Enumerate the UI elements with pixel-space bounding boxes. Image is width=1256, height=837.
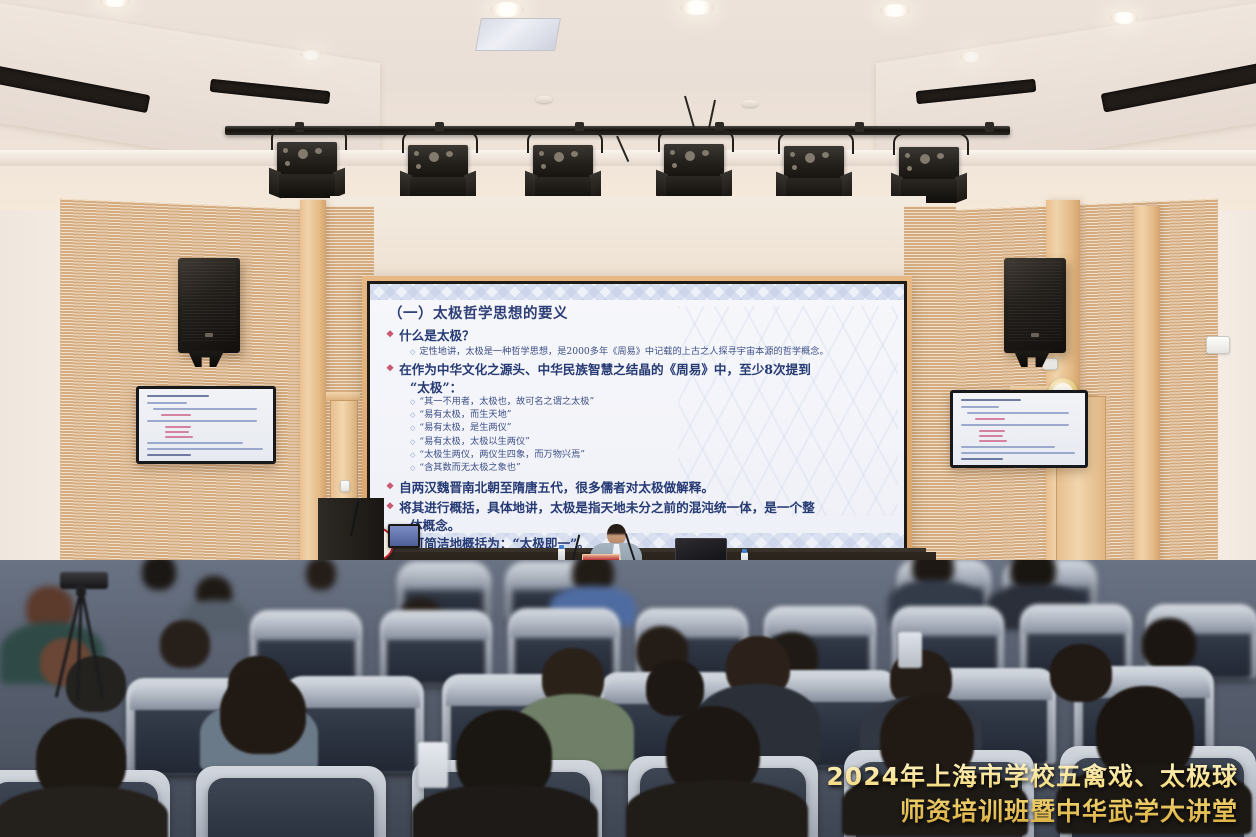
video-camera-on-tripod [54, 572, 114, 702]
diamond-bullet-icon: ❖ [386, 500, 394, 515]
audience-member [160, 620, 210, 668]
slide-bullet-continuation: “太极”： [410, 380, 894, 396]
slide-bullet-level1: ❖ 将其进行概括，具体地讲，太极是指天地未分之前的混沌统一体，是一个整 [386, 500, 894, 517]
smoke-detector [536, 96, 552, 103]
event-caption: 2024年上海市学校五禽戏、太极球 师资培训班暨中华武学大讲堂 [826, 760, 1238, 829]
slide-bullet-text: 在作为中华文化之源头、中华民族智慧之结晶的《周易》中，至少8次提到 [399, 362, 811, 379]
audience-member [220, 672, 306, 754]
auditorium-chair [208, 778, 374, 837]
sub-bullet-icon: ◇ [410, 422, 415, 435]
slide-bullet-level2: ◇ “太极生两仪，两仪生四象，而万物兴焉” [410, 449, 894, 462]
ceiling-downlight [680, 0, 714, 15]
slide-bullet-text: “易有太极，而生天地” [419, 409, 894, 421]
wall-speaker-left [178, 258, 240, 353]
audience-member [1142, 618, 1196, 670]
wall-mounted-sensor [1206, 336, 1230, 354]
sub-bullet-icon: ◇ [410, 396, 415, 409]
slide-bullet-level2: ◇ “易有太极，而生天地” [410, 409, 894, 422]
caption-line-2: 师资培训班暨中华武学大讲堂 [826, 795, 1238, 830]
diamond-bullet-icon: ❖ [386, 480, 394, 495]
lectern-monitor [388, 524, 420, 548]
slide-bullet-level1: ❖ 自两汉魏晋南北朝至隋唐五代，很多儒者对太极做解释。 [386, 480, 894, 497]
side-display-left [136, 386, 276, 464]
audience-member [1050, 644, 1112, 702]
caption-line-1: 2024年上海市学校五禽戏、太极球 [826, 760, 1238, 795]
slide-title: （一）太极哲学思想的要义 [388, 302, 894, 323]
smoke-detector [742, 100, 758, 107]
slide-bullet-level2: ◇ “易有太极，太极以生两仪” [410, 436, 894, 449]
audience-member [0, 786, 168, 837]
wall-switch-plate[interactable] [340, 480, 350, 492]
slide-bullet-text: 将其进行概括，具体地讲，太极是指天地未分之前的混沌统一体，是一个整 [399, 500, 815, 517]
sub-bullet-icon: ◇ [410, 462, 415, 475]
smartphone[interactable] [898, 632, 922, 668]
slide-bullet-level1: ❖ 在作为中华文化之源头、中华民族智慧之结晶的《周易》中，至少8次提到 [386, 362, 894, 379]
stage-light-fixture [655, 144, 733, 204]
ceiling-downlight [1110, 12, 1138, 24]
sub-bullet-icon: ◇ [410, 436, 415, 449]
ceiling-downlight [880, 4, 910, 17]
slide-bullet-text: “含其数而无太极之象也” [419, 462, 894, 474]
projection-screen-bezel: （一）太极哲学思想的要义 ❖ 什么是太极？ ◇ 定性地讲，太极是一种哲学思想，是… [367, 281, 907, 556]
slide-content: （一）太极哲学思想的要义 ❖ 什么是太极？ ◇ 定性地讲，太极是一种哲学思想，是… [370, 284, 904, 553]
sub-bullet-icon: ◇ [410, 449, 415, 462]
audience-member [142, 560, 176, 590]
ceiling-downlight [490, 2, 524, 17]
slide-bullet-level2: ◇ “其一不用者，太极也，故可名之谓之太极” [410, 396, 894, 409]
ceiling-downlight [960, 52, 982, 62]
slide-bullet-text: 自两汉魏晋南北朝至隋唐五代，很多儒者对太极做解释。 [399, 480, 714, 497]
audience-member [626, 780, 808, 837]
projection-screen-frame: （一）太极哲学思想的要义 ❖ 什么是太极？ ◇ 定性地讲，太极是一种哲学思想，是… [362, 276, 912, 561]
slide-bullet-level2: ◇ “易有太极，是生两仪” [410, 422, 894, 435]
slide-bullet-text: 定性地讲，太极是一种哲学思想，是2000多年《周易》中记载的上古之人探寻宇宙本源… [419, 346, 894, 358]
smartphone[interactable] [418, 742, 448, 788]
slide-bullet-text: “易有太极，是生两仪” [419, 422, 894, 434]
front-wall-upper [330, 196, 926, 276]
slide-bullet-level2: ◇ “含其数而无太极之象也” [410, 462, 894, 475]
wall-speaker-right [1004, 258, 1066, 353]
ceiling-air-grille [475, 18, 561, 51]
sub-bullet-icon: ◇ [410, 346, 415, 359]
side-display-right [950, 390, 1088, 468]
slide-bullet-text: 什么是太极？ [399, 328, 475, 345]
slide-bullet-level1: ❖ 什么是太极？ [386, 328, 894, 345]
ceiling-downlight [100, 0, 130, 7]
slide-bullet-level2: ◇ 定性地讲，太极是一种哲学思想，是2000多年《周易》中记载的上古之人探寻宇宙… [410, 346, 894, 359]
diamond-bullet-icon: ❖ [386, 328, 394, 343]
ceiling [0, 0, 1256, 214]
stage-light-fixture [268, 142, 346, 202]
slide-bullet-text: “太极生两仪，两仪生四象，而万物兴焉” [419, 449, 894, 461]
lecture-hall-photo: （一）太极哲学思想的要义 ❖ 什么是太极？ ◇ 定性地讲，太极是一种哲学思想，是… [0, 0, 1256, 837]
slide-bullet-continuation: 体概念。 [410, 518, 894, 534]
sub-bullet-icon: ◇ [410, 409, 415, 422]
audience-member [412, 784, 598, 837]
slide-bullet-text: “其一不用者，太极也，故可名之谓之太极” [419, 396, 894, 408]
ceiling-downlight [300, 50, 322, 60]
diamond-bullet-icon: ❖ [386, 362, 394, 377]
slide-bullet-text: “易有太极，太极以生两仪” [419, 436, 894, 448]
presentation-slide: （一）太极哲学思想的要义 ❖ 什么是太极？ ◇ 定性地讲，太极是一种哲学思想，是… [370, 284, 904, 553]
audience-member [306, 560, 336, 590]
presenter-head [607, 524, 626, 545]
